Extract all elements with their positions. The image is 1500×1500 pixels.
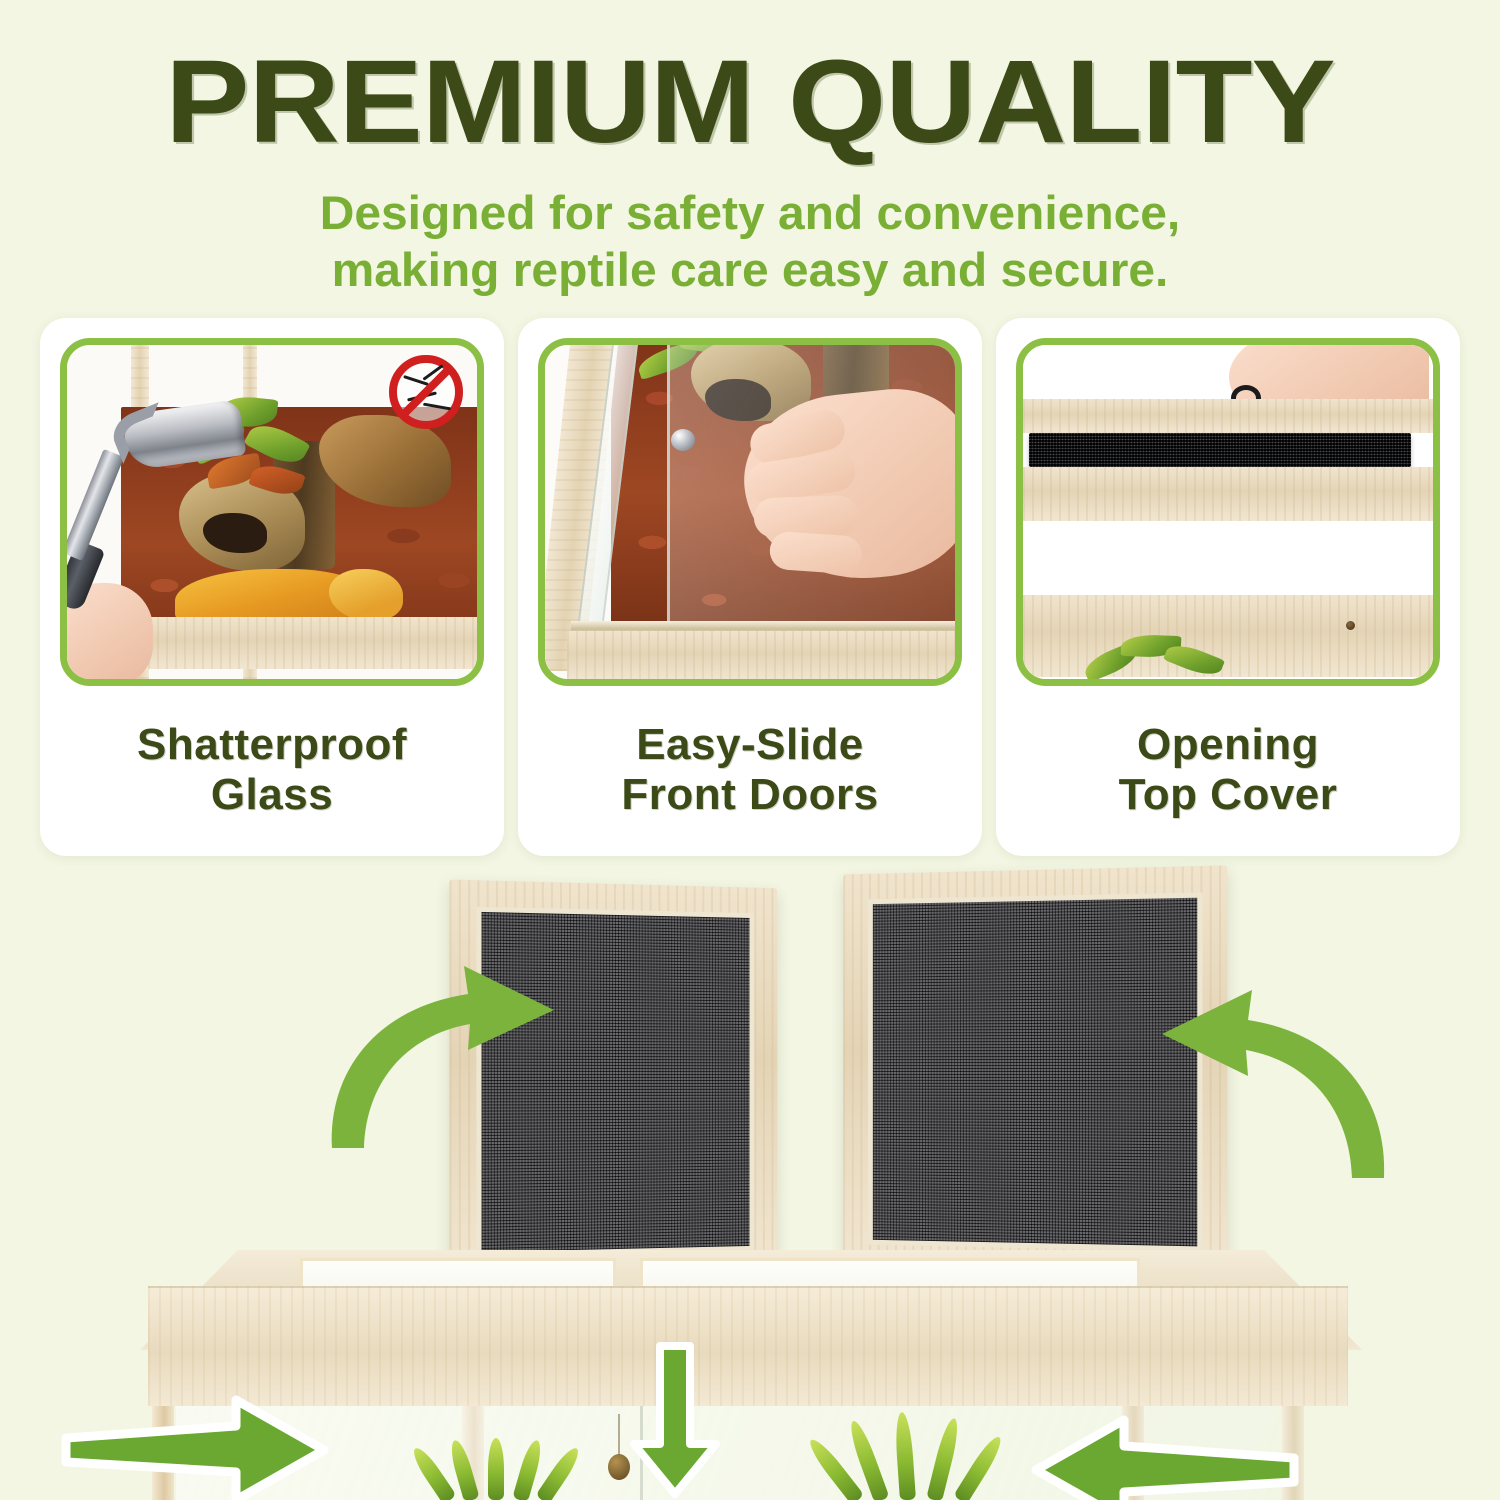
feature-photo-frame (60, 338, 484, 686)
photo-shatterproof-glass (67, 345, 477, 679)
feature-label-line-1: Easy-Slide (621, 720, 878, 770)
header-block: PREMIUM QUALITY Designed for safety and … (0, 0, 1500, 298)
artificial-plant (432, 1430, 572, 1500)
feature-label-line-1: Opening (1119, 720, 1338, 770)
artificial-plant (840, 1412, 1000, 1500)
feature-card-label: Opening Top Cover (1119, 720, 1338, 819)
page-subtitle: Designed for safety and convenience, mak… (0, 185, 1500, 298)
feature-card-easy-slide-front-doors[interactable]: Easy-Slide Front Doors (518, 318, 982, 856)
no-shatter-icon (389, 355, 463, 429)
artificial-plant (1083, 635, 1243, 679)
curved-arrow-right-lid (1148, 972, 1398, 1182)
page-subtitle-line-1: Designed for safety and convenience, (0, 185, 1500, 241)
feature-label-line-2: Top Cover (1119, 770, 1338, 820)
door-knob[interactable] (671, 429, 695, 451)
screw (1346, 621, 1355, 630)
page-title: PREMIUM QUALITY (0, 46, 1500, 159)
terrarium-front-rail (148, 1286, 1348, 1406)
feature-card-label: Shatterproof Glass (137, 720, 407, 819)
feature-card-row: Shatterproof Glass (40, 318, 1460, 856)
feature-label-line-2: Front Doors (621, 770, 878, 820)
photo-opening-top-cover (1023, 345, 1433, 679)
arrow-slide-door-left (1030, 1420, 1300, 1500)
curved-arrow-left-lid (318, 952, 568, 1152)
arrow-top-open-down (620, 1340, 730, 1500)
feature-card-opening-top-cover[interactable]: Opening Top Cover (996, 318, 1460, 856)
mesh-top-cover[interactable] (1029, 433, 1411, 467)
page-subtitle-line-2: making reptile care easy and secure. (0, 242, 1500, 298)
feature-label-line-1: Shatterproof (137, 720, 407, 770)
feature-label-line-2: Glass (137, 770, 407, 820)
feature-card-label: Easy-Slide Front Doors (621, 720, 878, 819)
feature-card-shatterproof-glass[interactable]: Shatterproof Glass (40, 318, 504, 856)
feature-photo-frame (538, 338, 962, 686)
photo-easy-slide-doors (545, 345, 955, 679)
feature-photo-frame (1016, 338, 1440, 686)
arrow-slide-door-right (60, 1400, 330, 1500)
